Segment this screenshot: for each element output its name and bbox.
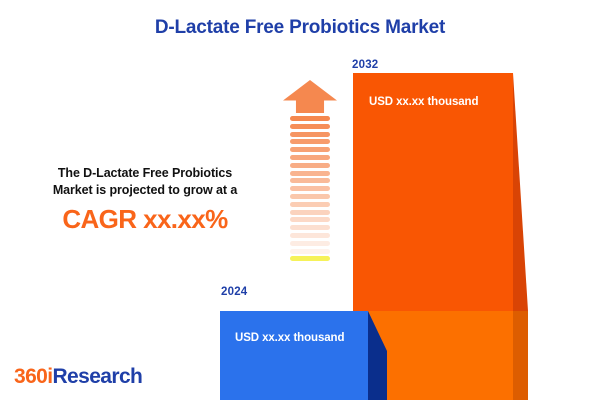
arrow-segment — [290, 139, 330, 144]
bar-2024-value-label: USD xx.xx thousand — [235, 332, 344, 344]
arrow-segment — [290, 264, 330, 269]
bar-2032-side-lower-face — [513, 311, 528, 400]
arrow-segment — [290, 233, 330, 238]
logo-research-text: Research — [52, 365, 142, 388]
arrow-segment — [290, 163, 330, 168]
arrow-segment — [290, 124, 330, 129]
bar-2032-front-upper-face — [353, 73, 513, 311]
year-label-2024: 2024 — [221, 286, 247, 298]
year-label-2032: 2032 — [352, 59, 378, 71]
arrow-segment — [290, 194, 330, 199]
arrow-segment — [290, 217, 330, 222]
arrow-segment — [290, 155, 330, 160]
arrow-segment — [290, 178, 330, 183]
statement-line-1: The D-Lactate Free Probiotics — [30, 165, 260, 182]
bar-2024-front-face — [220, 311, 368, 400]
arrow-head-icon — [283, 80, 337, 113]
arrow-segment — [290, 225, 330, 230]
statement-line-2: Market is projected to grow at a — [30, 182, 260, 199]
arrow-segment — [290, 249, 330, 254]
arrow-segment — [290, 241, 330, 246]
bar-2024[interactable]: USD xx.xx thousand — [220, 311, 387, 400]
arrow-segment — [290, 147, 330, 152]
arrow-segment — [290, 171, 330, 176]
arrow-segment — [290, 210, 330, 215]
arrow-segment — [290, 116, 330, 121]
bar-2024-side-face — [368, 311, 387, 400]
company-logo[interactable]: 360iResearch — [14, 365, 142, 389]
growth-arrow-icon — [283, 80, 337, 280]
arrow-segment-stack — [290, 116, 330, 280]
bar-2032-value-label: USD xx.xx thousand — [369, 96, 478, 108]
arrow-segment — [290, 256, 330, 261]
infographic-canvas: D-Lactate Free Probiotics Market 2032 US… — [0, 0, 600, 400]
arrow-segment — [290, 272, 330, 277]
page-title: D-Lactate Free Probiotics Market — [0, 17, 600, 39]
statement-block: The D-Lactate Free Probiotics Market is … — [30, 165, 260, 235]
logo-360i-text: 360i — [14, 365, 52, 388]
cagr-value: CAGR xx.xx% — [30, 204, 260, 235]
arrow-segment — [290, 132, 330, 137]
bar-2032-side-upper-face — [513, 73, 528, 311]
arrow-segment — [290, 202, 330, 207]
arrow-segment — [290, 186, 330, 191]
